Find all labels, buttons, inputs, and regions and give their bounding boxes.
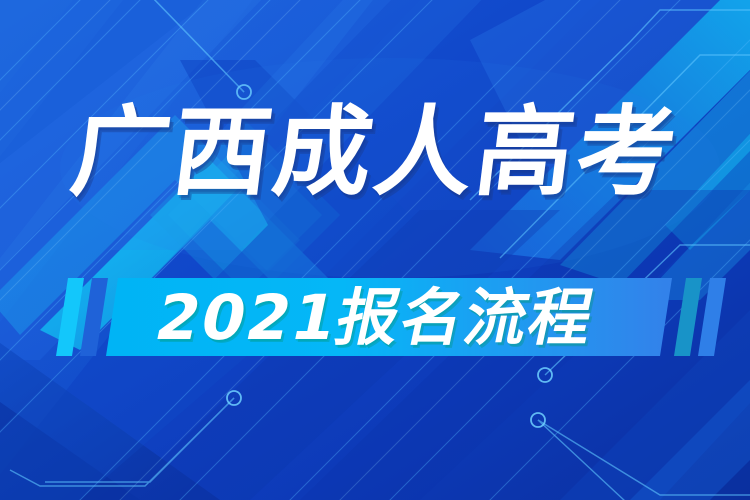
promo-banner: 广西成人高考 2021报名流程 xyxy=(0,0,750,500)
background-artwork xyxy=(0,0,750,500)
main-title-wrap: 广西成人高考 xyxy=(0,104,750,202)
main-title: 广西成人高考 xyxy=(66,104,684,202)
